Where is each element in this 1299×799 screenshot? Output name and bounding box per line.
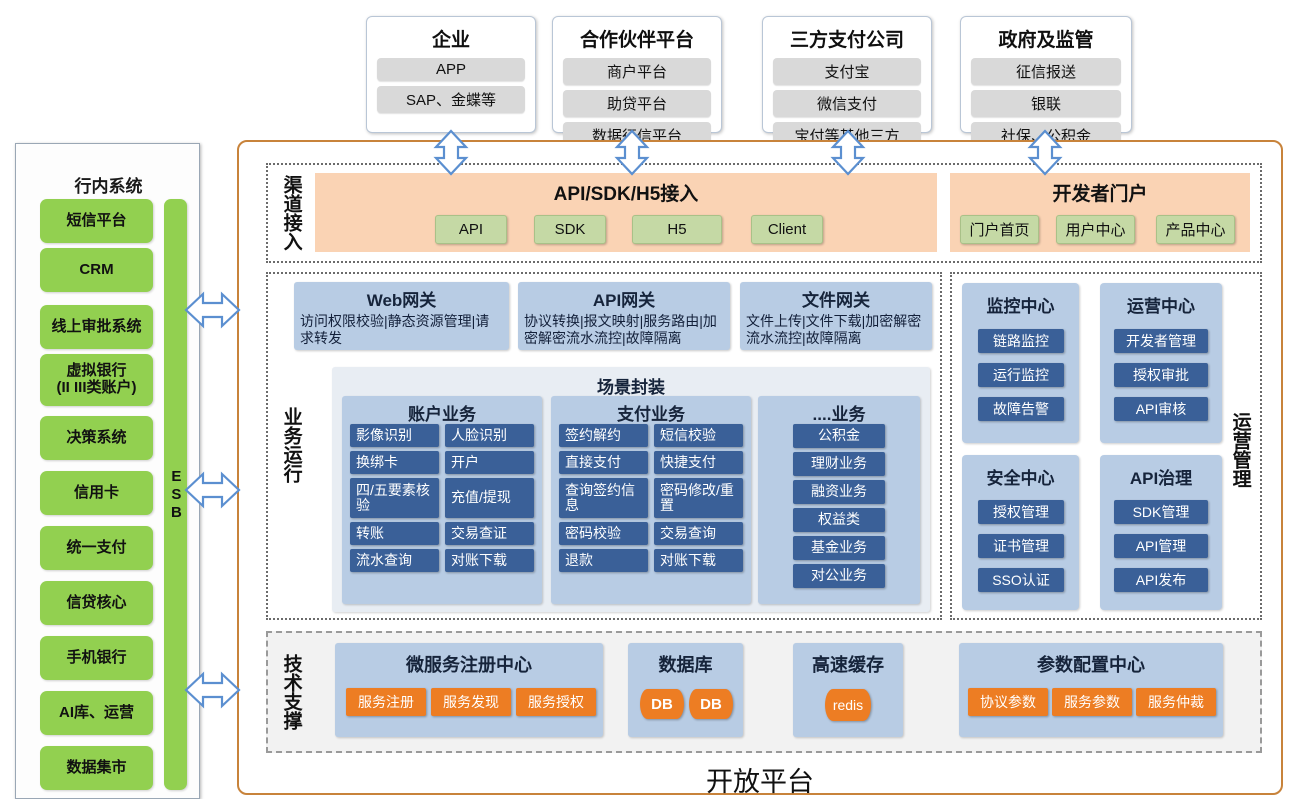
biz-chip[interactable]: 四/五要素核验 xyxy=(350,478,439,518)
biz-chip[interactable]: 流水查询 xyxy=(350,549,439,572)
database-cylinder[interactable]: DB xyxy=(689,689,733,719)
api-sdk-h5-block: API/SDK/H5接入 API SDK H5 Client xyxy=(315,173,937,252)
biz-chip[interactable]: 充值/提现 xyxy=(445,478,534,518)
external-box-title: 企业 xyxy=(377,25,525,52)
biz-chip[interactable]: 理财业务 xyxy=(793,452,885,476)
gateway-title: Web网关 xyxy=(300,286,503,311)
biz-chip[interactable]: 公积金 xyxy=(793,424,885,448)
ops-chip[interactable]: SSO认证 xyxy=(978,568,1064,592)
architecture-diagram: 企业 APP SAP、金蝶等 合作伙伴平台 商户平台 助贷平台 数据征信平台 三… xyxy=(0,0,1299,799)
bank-item-data-mart[interactable]: 数据集市 xyxy=(40,746,153,790)
biz-chip[interactable]: 对账下载 xyxy=(445,549,534,572)
biz-chip[interactable]: 快捷支付 xyxy=(654,451,743,474)
biz-group-title: 账户业务 xyxy=(342,400,542,425)
developer-portal-title: 开发者门户 xyxy=(950,179,1250,206)
tech-chip[interactable]: 服务授权 xyxy=(516,688,596,716)
biz-chip[interactable]: 签约解约 xyxy=(559,424,648,447)
channel-chip-h5[interactable]: H5 xyxy=(632,215,722,244)
tech-chip[interactable]: 服务参数 xyxy=(1052,688,1132,716)
api-sdk-h5-title: API/SDK/H5接入 xyxy=(315,179,937,206)
gateway-title: API网关 xyxy=(524,286,724,311)
ops-box-title: 运营中心 xyxy=(1100,292,1222,317)
operations-management-label-text: 运营管理 xyxy=(1229,412,1250,488)
bank-item-mobile-bank[interactable]: 手机银行 xyxy=(40,636,153,680)
biz-chip[interactable]: 密码校验 xyxy=(559,522,648,545)
esb-label: ESB xyxy=(166,468,185,522)
external-box-thirdparty-payment: 三方支付公司 支付宝 微信支付 宝付等其他三方 xyxy=(762,16,932,133)
channel-access-label: 渠道接入 xyxy=(272,166,310,260)
biz-chip[interactable]: 影像识别 xyxy=(350,424,439,447)
tech-chip[interactable]: 服务仲裁 xyxy=(1136,688,1216,716)
biz-group-title: 支付业务 xyxy=(551,400,751,425)
gateway-desc: 访问权限校验|静态资源管理|请求转发 xyxy=(300,313,503,346)
external-box-title: 合作伙伴平台 xyxy=(563,25,711,52)
tech-box-title: 数据库 xyxy=(628,651,743,677)
ops-box-title: 安全中心 xyxy=(962,464,1079,489)
biz-chip[interactable]: 交易查证 xyxy=(445,522,534,545)
biz-chip[interactable]: 基金业务 xyxy=(793,536,885,560)
bank-item-credit-core[interactable]: 信贷核心 xyxy=(40,581,153,625)
gateway-desc: 文件上传|文件下载|加密解密流水流控|故障隔离 xyxy=(746,313,926,346)
channel-chip-api[interactable]: API xyxy=(435,215,507,244)
tech-box-database: 数据库 DB DB xyxy=(628,643,743,737)
developer-portal-block: 开发者门户 门户首页 用户中心 产品中心 xyxy=(950,173,1250,252)
ops-chip[interactable]: 链路监控 xyxy=(978,329,1064,353)
bank-item-online-approval[interactable]: 线上审批系统 xyxy=(40,305,153,349)
tech-chip[interactable]: 服务注册 xyxy=(346,688,426,716)
open-platform-title: 开放平台 xyxy=(237,760,1283,799)
channel-access-label-text: 渠道接入 xyxy=(280,175,301,251)
ops-box-title: 监控中心 xyxy=(962,292,1079,317)
external-item[interactable]: 征信报送 xyxy=(971,58,1121,85)
ops-box-security: 安全中心 授权管理 证书管理 SSO认证 xyxy=(962,455,1079,610)
external-item[interactable]: 助贷平台 xyxy=(563,90,711,117)
gateway-title: 文件网关 xyxy=(746,286,926,311)
external-box-government: 政府及监管 征信报送 银联 社保、公积金 xyxy=(960,16,1132,133)
gateway-card-api[interactable]: API网关 协议转换|报文映射|服务路由|加密解密流水流控|故障隔离 xyxy=(518,282,730,350)
ops-chip[interactable]: 运行监控 xyxy=(978,363,1064,387)
biz-chip[interactable]: 退款 xyxy=(559,549,648,572)
ops-chip[interactable]: 授权审批 xyxy=(1114,363,1208,387)
ops-box-title: API治理 xyxy=(1100,464,1222,489)
biz-chip[interactable]: 换绑卡 xyxy=(350,451,439,474)
ops-chip[interactable]: 故障告警 xyxy=(978,397,1064,421)
external-item[interactable]: APP xyxy=(377,58,525,81)
external-box-title: 三方支付公司 xyxy=(773,25,921,52)
external-box-partner: 合作伙伴平台 商户平台 助贷平台 数据征信平台 xyxy=(552,16,722,133)
biz-group-title: ....业务 xyxy=(758,400,920,425)
tech-support-label-text: 技术支撑 xyxy=(280,654,301,730)
ops-box-operations-center: 运营中心 开发者管理 授权审批 API审核 xyxy=(1100,283,1222,443)
tech-box-title: 高速缓存 xyxy=(793,651,903,677)
ops-chip[interactable]: 开发者管理 xyxy=(1114,329,1208,353)
biz-group-payment: 支付业务 签约解约 直接支付 查询签约信息 密码校验 退款 短信校验 快捷支付 … xyxy=(551,396,751,604)
biz-group-other: ....业务 公积金 理财业务 融资业务 权益类 基金业务 对公业务 xyxy=(758,396,920,604)
biz-chip[interactable]: 融资业务 xyxy=(793,480,885,504)
biz-chip[interactable]: 查询签约信息 xyxy=(559,478,648,518)
biz-chip[interactable]: 直接支付 xyxy=(559,451,648,474)
ops-chip[interactable]: API管理 xyxy=(1114,534,1208,558)
redis-cylinder[interactable]: redis xyxy=(825,689,871,721)
ops-chip[interactable]: 证书管理 xyxy=(978,534,1064,558)
gateway-card-file[interactable]: 文件网关 文件上传|文件下载|加密解密流水流控|故障隔离 xyxy=(740,282,932,350)
ops-chip[interactable]: SDK管理 xyxy=(1114,500,1208,524)
tech-box-title: 微服务注册中心 xyxy=(335,651,603,677)
tech-chip[interactable]: 服务发现 xyxy=(431,688,511,716)
developer-portal-chip-product-center[interactable]: 产品中心 xyxy=(1156,215,1235,244)
bank-item-crm[interactable]: CRM xyxy=(40,248,153,292)
esb-bus[interactable]: ESB xyxy=(164,199,187,790)
external-item[interactable]: 支付宝 xyxy=(773,58,921,85)
bank-systems-panel: 行内系统 短信平台 CRM 线上审批系统 虚拟银行 (II III类账户) 决策… xyxy=(15,143,200,799)
channel-chip-client[interactable]: Client xyxy=(751,215,823,244)
database-cylinder[interactable]: DB xyxy=(640,689,684,719)
scene-package-title: 场景封装 xyxy=(332,373,930,398)
operations-management-label: 运营管理 xyxy=(1222,390,1258,510)
external-box-enterprise: 企业 APP SAP、金蝶等 xyxy=(366,16,536,133)
ops-box-monitoring: 监控中心 链路监控 运行监控 故障告警 xyxy=(962,283,1079,443)
business-operation-label: 业务运行 xyxy=(272,370,310,520)
tech-box-title: 参数配置中心 xyxy=(959,651,1223,677)
biz-chip[interactable]: 短信校验 xyxy=(654,424,743,447)
bank-item-credit-card[interactable]: 信用卡 xyxy=(40,471,153,515)
external-box-title: 政府及监管 xyxy=(971,25,1121,52)
business-operation-label-text: 业务运行 xyxy=(280,407,301,483)
gateway-card-web[interactable]: Web网关 访问权限校验|静态资源管理|请求转发 xyxy=(294,282,509,350)
ops-chip[interactable]: API发布 xyxy=(1114,568,1208,592)
tech-box-config-center: 参数配置中心 协议参数 服务参数 服务仲裁 xyxy=(959,643,1223,737)
developer-portal-chip-home[interactable]: 门户首页 xyxy=(960,215,1039,244)
biz-chip[interactable]: 对账下载 xyxy=(654,549,743,572)
biz-chip[interactable]: 开户 xyxy=(445,451,534,474)
bank-item-sms[interactable]: 短信平台 xyxy=(40,199,153,243)
external-item[interactable]: 微信支付 xyxy=(773,90,921,117)
biz-group-account: 账户业务 影像识别 换绑卡 四/五要素核验 转账 流水查询 人脸识别 开户 充值… xyxy=(342,396,542,604)
external-item[interactable]: 商户平台 xyxy=(563,58,711,85)
tech-chip[interactable]: 协议参数 xyxy=(968,688,1048,716)
tech-support-label: 技术支撑 xyxy=(272,638,310,746)
developer-portal-chip-user-center[interactable]: 用户中心 xyxy=(1056,215,1135,244)
ops-chip[interactable]: API审核 xyxy=(1114,397,1208,421)
ops-chip[interactable]: 授权管理 xyxy=(978,500,1064,524)
bank-item-ai-ops[interactable]: AI库、运营 xyxy=(40,691,153,735)
bank-item-unified-payment[interactable]: 统一支付 xyxy=(40,526,153,570)
biz-chip[interactable]: 交易查询 xyxy=(654,522,743,545)
biz-chip[interactable]: 人脸识别 xyxy=(445,424,534,447)
bank-item-virtual-bank[interactable]: 虚拟银行 (II III类账户) xyxy=(40,354,153,406)
biz-chip[interactable]: 转账 xyxy=(350,522,439,545)
ops-box-api-governance: API治理 SDK管理 API管理 API发布 xyxy=(1100,455,1222,610)
gateway-desc: 协议转换|报文映射|服务路由|加密解密流水流控|故障隔离 xyxy=(524,313,724,346)
external-item[interactable]: 银联 xyxy=(971,90,1121,117)
channel-chip-sdk[interactable]: SDK xyxy=(534,215,606,244)
biz-chip[interactable]: 对公业务 xyxy=(793,564,885,588)
tech-box-cache: 高速缓存 redis xyxy=(793,643,903,737)
external-item[interactable]: SAP、金蝶等 xyxy=(377,86,525,113)
biz-chip[interactable]: 密码修改/重置 xyxy=(654,478,743,518)
biz-chip[interactable]: 权益类 xyxy=(793,508,885,532)
tech-box-microservice-registry: 微服务注册中心 服务注册 服务发现 服务授权 xyxy=(335,643,603,737)
bank-item-decision[interactable]: 决策系统 xyxy=(40,416,153,460)
bank-systems-title: 行内系统 xyxy=(16,172,201,197)
